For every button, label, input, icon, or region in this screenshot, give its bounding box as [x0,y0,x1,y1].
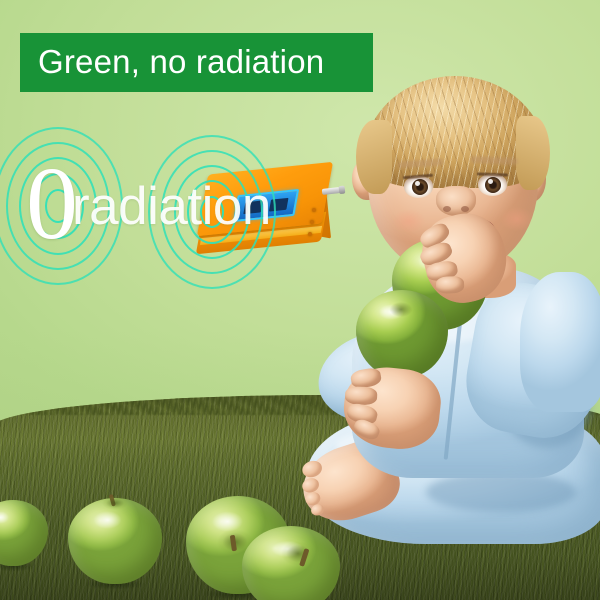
ground-apple [68,498,162,584]
ground-apple [242,526,340,600]
radiation-word: radiation [72,177,271,236]
baby-nose [436,186,476,216]
headline-banner: Green, no radiation [20,33,373,92]
baby-eye-right [478,174,507,196]
baby-hair-side-left [356,120,392,194]
headline-text: Green, no radiation [38,43,324,81]
zero-radiation-text: 0radiation [26,152,326,252]
baby-hair-side-right [516,116,550,190]
held-apple-lower [356,290,448,378]
zero-glyph: 0 [26,146,78,261]
baby-cheek-right [494,202,540,236]
baby-eye-left [404,176,433,198]
promo-banner-image: 0radiation Green, no radiation [0,0,600,600]
baby-shoulder [520,272,600,412]
